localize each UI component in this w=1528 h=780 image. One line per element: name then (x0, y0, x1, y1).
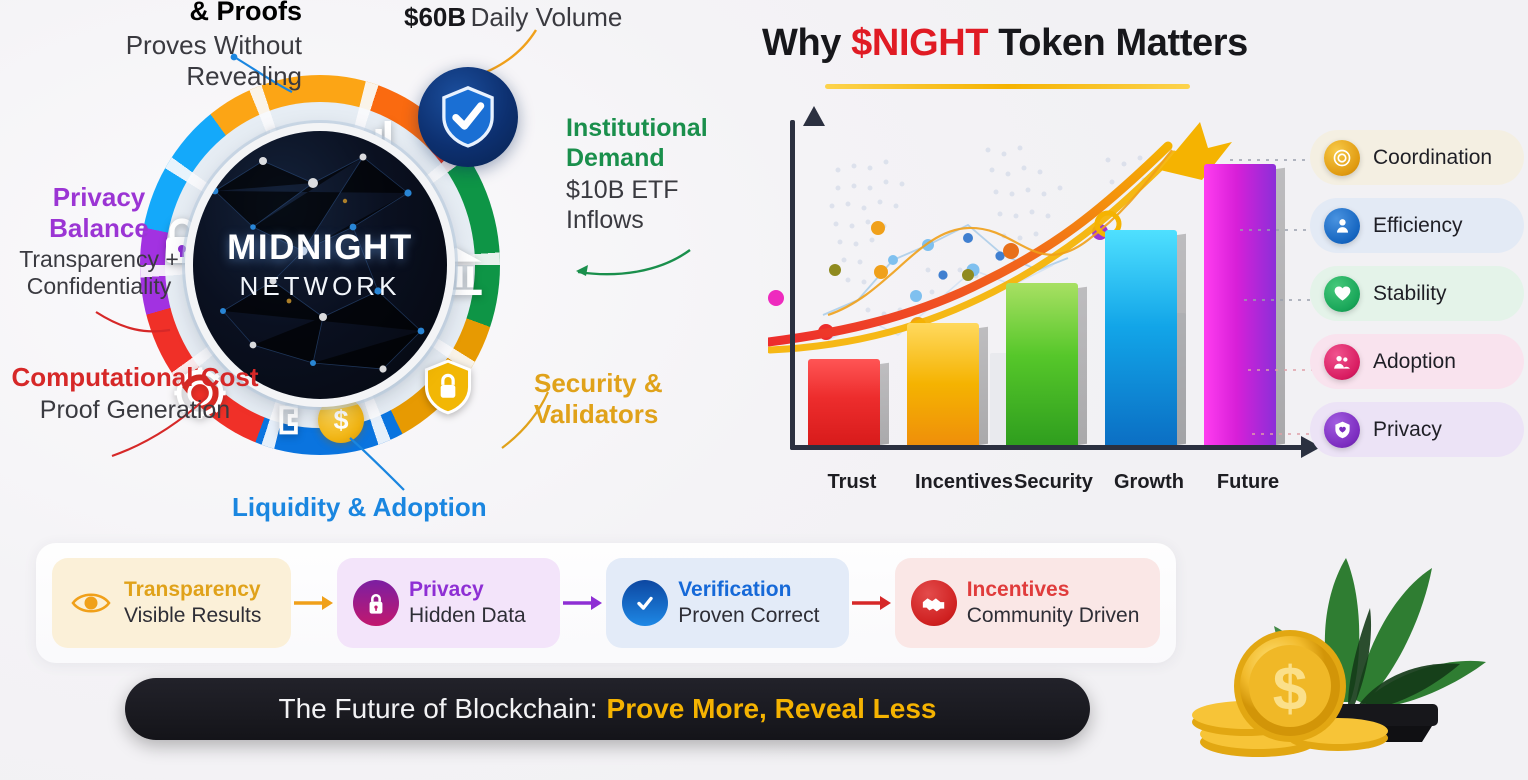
label-computational-cost-title: Computational Cost (10, 362, 260, 393)
label-institutional-demand-title: Institutional Demand (566, 114, 716, 173)
banner-text-plain: The Future of Blockchain: (279, 693, 598, 725)
coin-symbol: $ (333, 405, 348, 436)
label-daily-volume-value: $60B (404, 2, 466, 32)
label-daily-volume: $60B Daily Volume (404, 2, 622, 33)
hub-title: MIDNIGHT (227, 228, 413, 268)
x-axis (790, 445, 1305, 450)
label-computational-cost: Computational Cost Proof Generation (10, 362, 260, 425)
infographic-canvas: $ (0, 0, 1528, 780)
legend-label: Adoption (1373, 350, 1456, 374)
flow-card-title: Incentives (967, 578, 1140, 601)
shield-check-icon (418, 67, 518, 167)
flow-arrow-3-icon (849, 594, 895, 612)
hub-subtitle: NETWORK (240, 271, 401, 302)
label-security-validators-title: Security & Validators (534, 368, 714, 429)
legend-label: Coordination (1373, 146, 1492, 170)
chart-title-pre: Why (762, 22, 851, 64)
legend-label: Efficiency (1373, 214, 1463, 238)
flow-card-incentives[interactable]: Incentives Community Driven (895, 558, 1160, 648)
handshake-icon (911, 580, 957, 626)
check-circle-icon (622, 580, 668, 626)
flow-card-title: Privacy (409, 578, 526, 601)
stability-icon (1324, 276, 1360, 312)
chart-legend: Coordination Efficiency Stability Adopti… (1310, 130, 1524, 457)
legend-label: Privacy (1373, 418, 1442, 442)
label-institutional-demand: Institutional Demand $10B ETF Inflows (566, 114, 716, 235)
legend-item-privacy[interactable]: Privacy (1310, 402, 1524, 457)
plant-and-coins-decoration: $ (1168, 480, 1528, 780)
flow-card-subtitle: Proven Correct (678, 604, 819, 628)
bar-trust (808, 359, 880, 445)
svg-text:$: $ (1273, 655, 1307, 724)
label-zk-proofs: & Proofs Proves Without Revealing (62, 0, 302, 91)
x-tick-trust: Trust (816, 471, 888, 494)
bar-security (1006, 283, 1078, 445)
x-tick-incentives: Incentives (915, 471, 987, 494)
y-axis-arrow-icon (803, 106, 825, 126)
flow-card-subtitle: Community Driven (967, 604, 1140, 628)
label-privacy-balance: Privacy Balance Transparency + Confident… (4, 182, 194, 301)
coin-gear-icon (273, 395, 323, 445)
bar-incentives (907, 323, 979, 445)
legend-leader-lines (1230, 130, 1320, 450)
flow-card-verification[interactable]: Verification Proven Correct (606, 558, 849, 648)
privacy-icon (1324, 412, 1360, 448)
chart-panel: Why $NIGHT Token Matters (720, 0, 1528, 500)
label-privacy-balance-title: Privacy Balance (4, 182, 194, 243)
chart-title-post: Token Matters (988, 22, 1248, 64)
label-institutional-demand-sub: $10B ETF Inflows (566, 176, 716, 235)
flow-card-subtitle: Visible Results (124, 604, 261, 628)
flow-card-subtitle: Hidden Data (409, 604, 526, 628)
banner-text-highlight: Prove More, Reveal Less (607, 693, 937, 725)
legend-label: Stability (1373, 282, 1447, 306)
y-axis (790, 120, 795, 450)
efficiency-icon (1324, 208, 1360, 244)
label-zk-proofs-sub: Proves Without Revealing (62, 30, 302, 91)
label-zk-proofs-title: & Proofs (62, 0, 302, 28)
flow-card-privacy[interactable]: Privacy Hidden Data (337, 558, 560, 648)
flow-card-transparency[interactable]: Transparency Visible Results (52, 558, 291, 648)
flow-arrow-1-icon (291, 594, 337, 612)
chart-title: Why $NIGHT Token Matters (762, 22, 1248, 65)
label-daily-volume-sub: Daily Volume (471, 2, 623, 32)
flow-arrow-2-icon (560, 594, 606, 612)
flow-card-title: Verification (678, 578, 819, 601)
legend-item-efficiency[interactable]: Efficiency (1310, 198, 1524, 253)
label-computational-cost-sub: Proof Generation (10, 396, 260, 426)
x-tick-security: Security (1014, 471, 1086, 494)
legend-item-stability[interactable]: Stability (1310, 266, 1524, 321)
eye-icon (68, 580, 114, 626)
adoption-icon (1324, 344, 1360, 380)
legend-item-adoption[interactable]: Adoption (1310, 334, 1524, 389)
bar-growth (1105, 230, 1177, 445)
potted-plant-icon: $ (1168, 480, 1528, 780)
label-security-validators: Security & Validators (534, 368, 714, 429)
label-liquidity-adoption-title: Liquidity & Adoption (232, 492, 487, 523)
flow-card-title: Transparency (124, 578, 261, 601)
value-flow-strip: Transparency Visible Results Privacy Hid… (36, 543, 1176, 663)
chart-title-highlight: $NIGHT (851, 22, 988, 64)
label-liquidity-adoption: Liquidity & Adoption (232, 492, 487, 523)
legend-item-coordination[interactable]: Coordination (1310, 130, 1524, 185)
label-privacy-balance-sub: Transparency + Confidentiality (4, 246, 194, 300)
lock-icon (353, 580, 399, 626)
bottom-tagline-banner: The Future of Blockchain: Prove More, Re… (125, 678, 1090, 740)
midnight-network-wheel-panel: $ (0, 0, 720, 540)
dollar-coin-icon: $ (318, 397, 364, 443)
network-hub: MIDNIGHT NETWORK (193, 131, 447, 399)
coordination-icon (1324, 140, 1360, 176)
title-underline (825, 84, 1190, 89)
